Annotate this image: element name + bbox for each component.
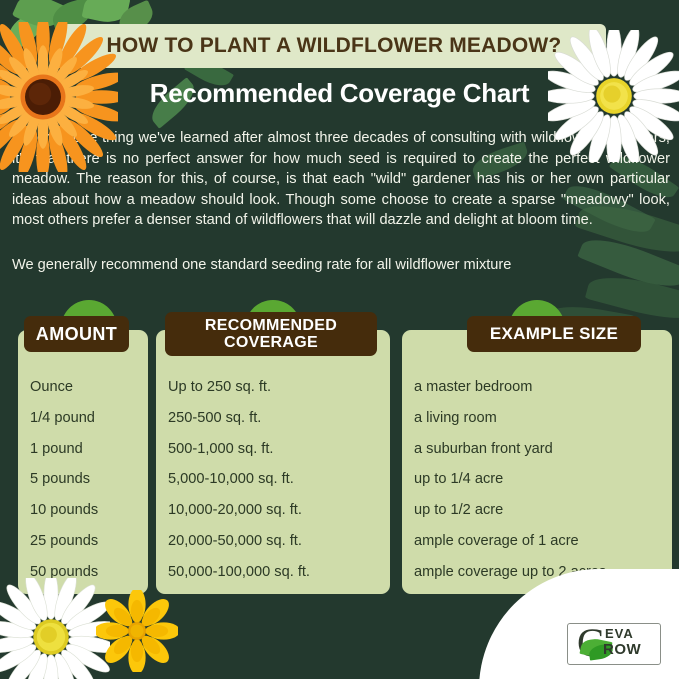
table-row: a master bedroom <box>414 372 672 403</box>
table-row: 10,000-20,000 sq. ft. <box>168 495 392 526</box>
column-header-coverage-line1: RECOMMENDED <box>205 317 337 334</box>
orange-calendula-flower-icon <box>0 22 118 172</box>
recommendation-paragraph: We generally recommend one standard seed… <box>12 255 670 276</box>
coverage-table: AMOUNT RECOMMENDED COVERAGE EXAMPLE SIZE… <box>0 300 679 590</box>
table-row: ample coverage of 1 acre <box>414 526 672 557</box>
page-title: HOW TO PLANT A WILDFLOWER MEADOW? <box>62 24 606 68</box>
table-row: 20,000-50,000 sq. ft. <box>168 526 392 557</box>
table-row: up to 1/2 acre <box>414 495 672 526</box>
table-row: 1 pound <box>30 434 148 465</box>
logo-text-eva: EVA <box>605 626 634 641</box>
table-row: 5 pounds <box>30 464 148 495</box>
infographic-poster: HOW TO PLANT A WILDFLOWER MEADOW? Recomm… <box>0 0 679 679</box>
table-row: a living room <box>414 403 672 434</box>
table-row: 250-500 sq. ft. <box>168 403 392 434</box>
logo-text-row: ROW <box>603 641 641 658</box>
yellow-coreopsis-flower-icon <box>96 590 178 672</box>
column-header-example: EXAMPLE SIZE <box>467 316 641 352</box>
column-header-coverage: RECOMMENDED COVERAGE <box>165 312 377 356</box>
table-row: 10 pounds <box>30 495 148 526</box>
column-header-amount: AMOUNT <box>24 316 129 352</box>
brand-logo[interactable]: G EVA ROW <box>559 619 667 667</box>
table-row: 5,000-10,000 sq. ft. <box>168 464 392 495</box>
column-values-coverage: Up to 250 sq. ft. 250-500 sq. ft. 500-1,… <box>168 372 392 588</box>
white-daisy-flower-icon <box>548 30 679 162</box>
table-row: up to 1/4 acre <box>414 464 672 495</box>
column-values-amount: Ounce 1/4 pound 1 pound 5 pounds 10 poun… <box>30 372 148 588</box>
white-daisy-flower-icon <box>0 578 110 679</box>
table-row: 25 pounds <box>30 526 148 557</box>
table-row: Up to 250 sq. ft. <box>168 372 392 403</box>
table-row: a suburban front yard <box>414 434 672 465</box>
table-row: Ounce <box>30 372 148 403</box>
column-header-coverage-line2: COVERAGE <box>205 334 337 351</box>
column-values-example: a master bedroom a living room a suburba… <box>414 372 672 588</box>
table-row: 1/4 pound <box>30 403 148 434</box>
table-row: 500-1,000 sq. ft. <box>168 434 392 465</box>
title-banner: HOW TO PLANT A WILDFLOWER MEADOW? <box>62 24 606 68</box>
table-row: 50,000-100,000 sq. ft. <box>168 557 392 588</box>
